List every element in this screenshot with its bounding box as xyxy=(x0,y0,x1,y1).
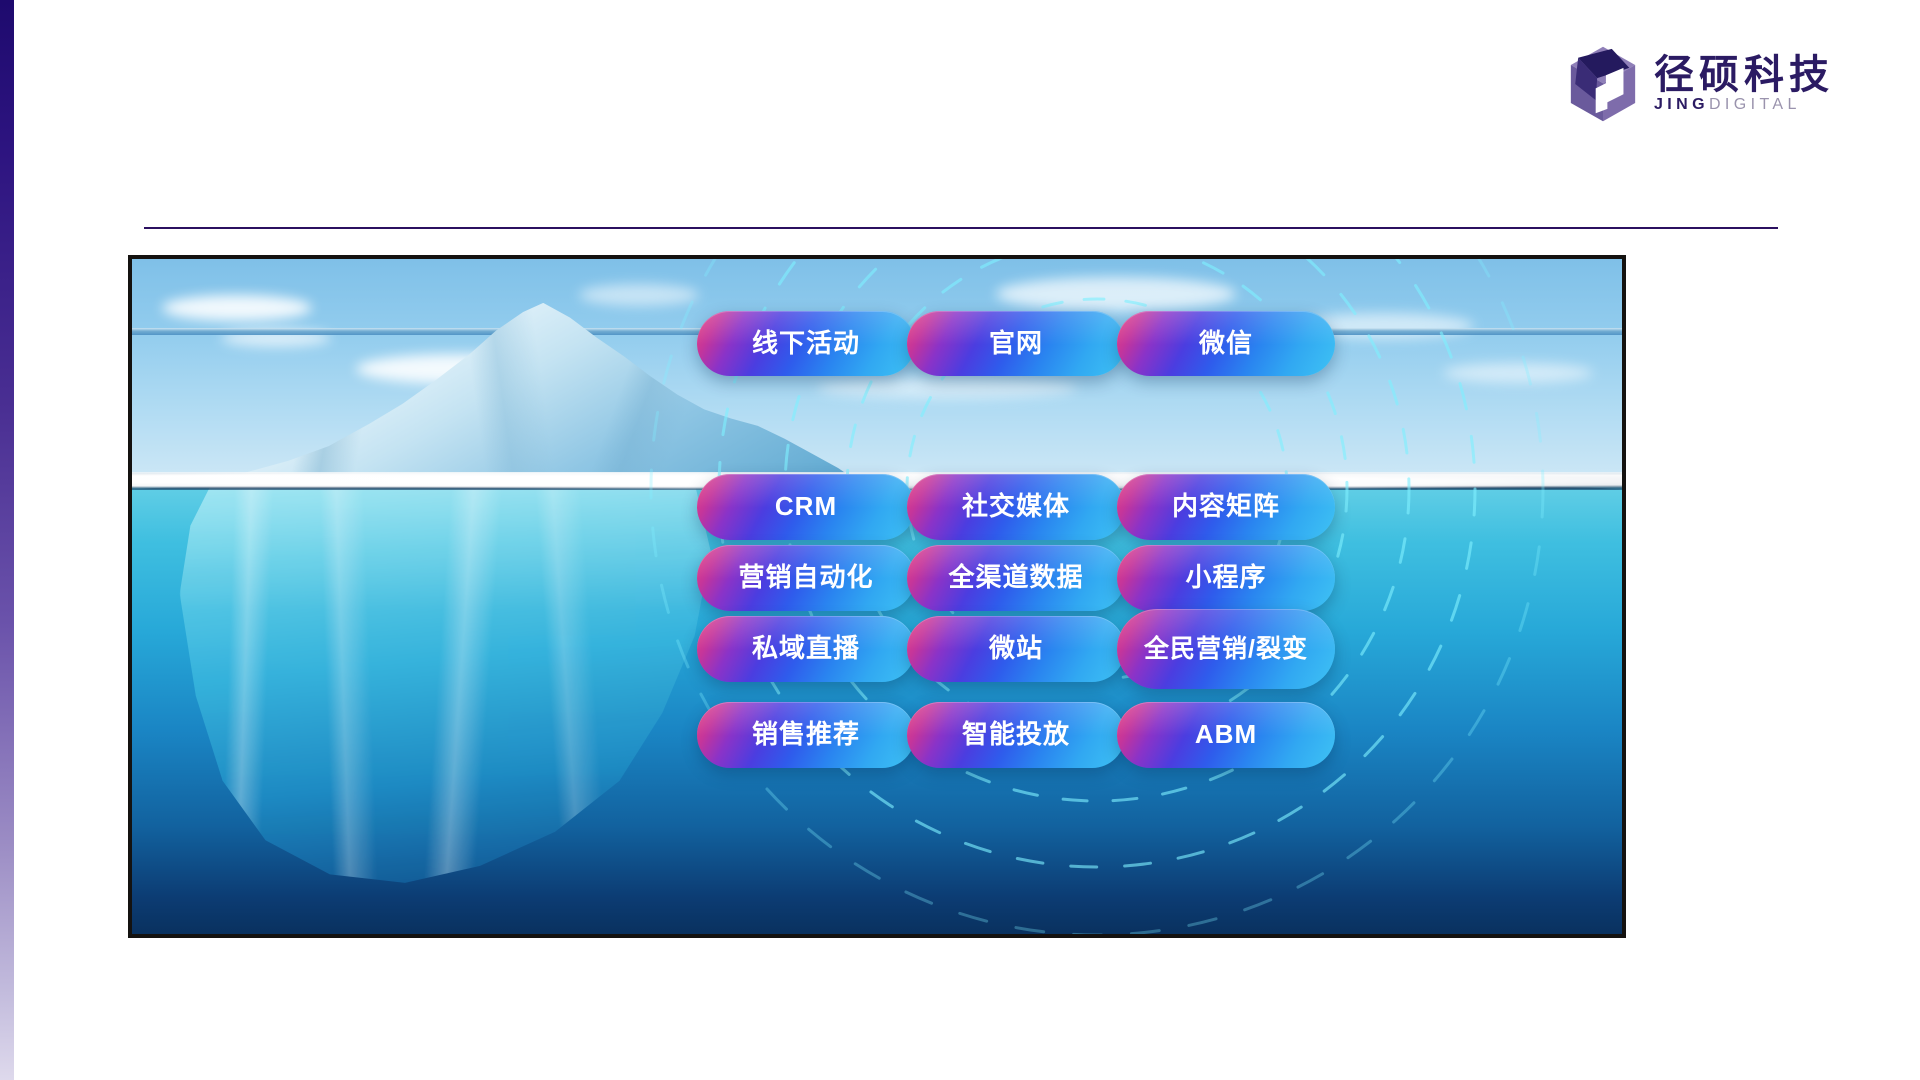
pill-offline-event[interactable]: 线下活动 xyxy=(697,311,915,376)
iceberg-figure: 线下活动 官网 微信 CRM 社交媒体 内容矩阵 营销自动化 xyxy=(128,255,1626,938)
pill-content-matrix[interactable]: 内容矩阵 xyxy=(1117,474,1335,540)
logo-name-en: JING DIGITAL xyxy=(1654,97,1834,113)
pill-mini-program[interactable]: 小程序 xyxy=(1117,545,1335,611)
pill-wechat[interactable]: 微信 xyxy=(1117,311,1335,376)
left-accent-bar xyxy=(0,0,14,1080)
cloud-icon xyxy=(579,284,699,306)
pill-label: 线下活动 xyxy=(752,329,860,359)
pill-label: 私域直播 xyxy=(752,634,860,664)
pill-label: 营销自动化 xyxy=(738,563,873,593)
pill-label: 销售推荐 xyxy=(752,720,860,750)
cloud-icon xyxy=(996,277,1236,311)
pill-label: ABM xyxy=(1195,720,1257,750)
pill-label: 智能投放 xyxy=(962,720,1070,750)
pill-label: 内容矩阵 xyxy=(1172,492,1280,522)
logo-name-en-bold: JING xyxy=(1654,97,1709,113)
pill-sales-recommend[interactable]: 销售推荐 xyxy=(697,702,915,768)
pill-label: CRM xyxy=(775,492,837,522)
pill-label: 微信 xyxy=(1199,329,1253,359)
pill-crm[interactable]: CRM xyxy=(697,474,915,540)
brand-logo: 径硕科技 JING DIGITAL xyxy=(1566,46,1834,122)
pill-label: 全民营销/裂变 xyxy=(1144,635,1308,663)
cloud-icon xyxy=(817,377,1077,399)
logo-name-en-light: DIGITAL xyxy=(1709,97,1801,113)
slide-canvas: 径硕科技 JING DIGITAL xyxy=(0,0,1920,1080)
pill-omnichannel-data[interactable]: 全渠道数据 xyxy=(907,545,1125,611)
pill-smart-advertising[interactable]: 智能投放 xyxy=(907,702,1125,768)
pill-label: 微站 xyxy=(989,634,1043,664)
pill-marketing-automation[interactable]: 营销自动化 xyxy=(697,545,915,611)
header-divider xyxy=(144,227,1778,229)
pill-label: 全渠道数据 xyxy=(948,563,1083,593)
pill-social-media[interactable]: 社交媒体 xyxy=(907,474,1125,540)
cloud-icon xyxy=(1443,363,1593,383)
pill-private-live[interactable]: 私域直播 xyxy=(697,616,915,682)
pill-label: 社交媒体 xyxy=(962,492,1070,522)
iceberg-image: 线下活动 官网 微信 CRM 社交媒体 内容矩阵 营销自动化 xyxy=(132,259,1622,934)
pill-abm[interactable]: ABM xyxy=(1117,702,1335,768)
pill-micro-site[interactable]: 微站 xyxy=(907,616,1125,682)
pill-label: 小程序 xyxy=(1185,563,1266,593)
pill-all-staff-marketing[interactable]: 全民营销/裂变 xyxy=(1117,609,1335,689)
pill-label: 官网 xyxy=(989,329,1043,359)
jingdigital-cube-logo-icon xyxy=(1566,46,1640,122)
cloud-icon xyxy=(162,295,312,321)
logo-name-cn: 径硕科技 xyxy=(1654,55,1834,95)
pill-official-website[interactable]: 官网 xyxy=(907,311,1125,376)
